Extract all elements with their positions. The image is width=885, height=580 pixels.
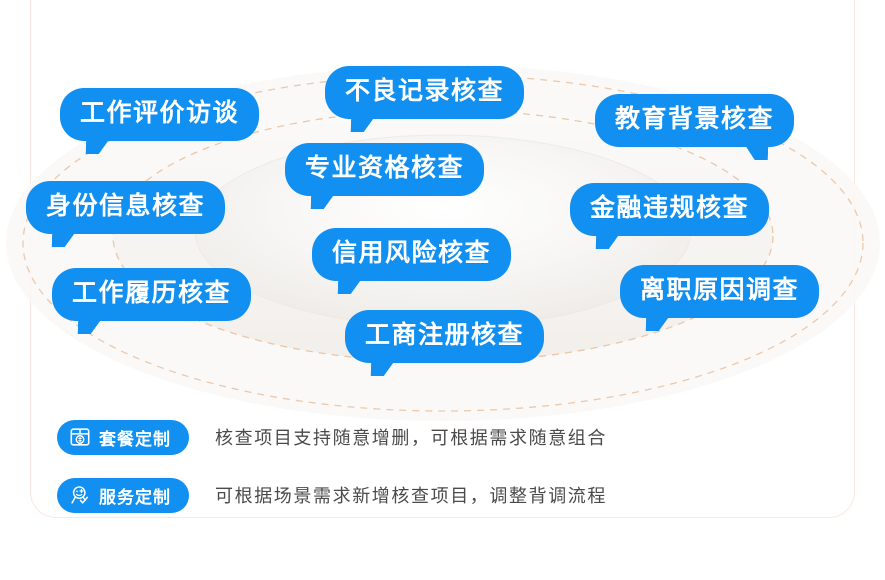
bubble-label: 工商注册核查 <box>365 321 524 349</box>
bubble-label: 工作评价访谈 <box>80 99 239 127</box>
feature-description: 可根据场景需求新增核查项目，调整背调流程 <box>215 482 607 508</box>
bubble-business-registration-check[interactable]: 工商注册核查 <box>345 310 544 363</box>
bubble-resignation-reason-survey[interactable]: 离职原因调查 <box>620 265 819 318</box>
bubble-label: 专业资格核查 <box>305 154 464 182</box>
bubble-education-background-check[interactable]: 教育背景核查 <box>595 94 794 147</box>
pill-service-customization[interactable]: 服务定制 <box>57 478 189 513</box>
pill-package-customization[interactable]: 套餐定制 <box>57 420 189 455</box>
bubble-credit-risk-check[interactable]: 信用风险核查 <box>312 228 511 281</box>
bubble-label: 身份信息核查 <box>46 192 205 220</box>
pill-label: 服务定制 <box>99 483 171 508</box>
bubble-label: 教育背景核查 <box>615 105 774 133</box>
bubble-identity-information-check[interactable]: 身份信息核查 <box>26 181 225 234</box>
bubble-label: 信用风险核查 <box>332 239 491 267</box>
bubble-bad-record-check[interactable]: 不良记录核查 <box>325 66 524 119</box>
feature-description: 核查项目支持随意增删，可根据需求随意组合 <box>215 424 607 450</box>
feature-row-service-customization: 服务定制 可根据场景需求新增核查项目，调整背调流程 <box>57 470 817 520</box>
bubble-label: 不良记录核查 <box>345 77 504 105</box>
bubble-work-history-check[interactable]: 工作履历核查 <box>52 268 251 321</box>
feature-row-package-customization: 套餐定制 核查项目支持随意增删，可根据需求随意组合 <box>57 412 817 462</box>
infographic-canvas: 工作评价访谈 不良记录核查 教育背景核查 专业资格核查 身份信息核查 金融违规核… <box>0 0 885 580</box>
package-window-icon <box>69 426 91 448</box>
bubble-financial-violation-check[interactable]: 金融违规核查 <box>570 183 769 236</box>
bubble-label: 工作履历核查 <box>72 279 231 307</box>
bubble-work-evaluation-interview[interactable]: 工作评价访谈 <box>60 88 259 141</box>
bubble-professional-qualification-check[interactable]: 专业资格核查 <box>285 143 484 196</box>
person-check-icon <box>69 484 91 506</box>
bubble-label: 离职原因调查 <box>640 276 799 304</box>
bubble-label: 金融违规核查 <box>590 194 749 222</box>
feature-list: 套餐定制 核查项目支持随意增删，可根据需求随意组合 服务定制 <box>57 412 817 528</box>
pill-label: 套餐定制 <box>99 425 171 450</box>
